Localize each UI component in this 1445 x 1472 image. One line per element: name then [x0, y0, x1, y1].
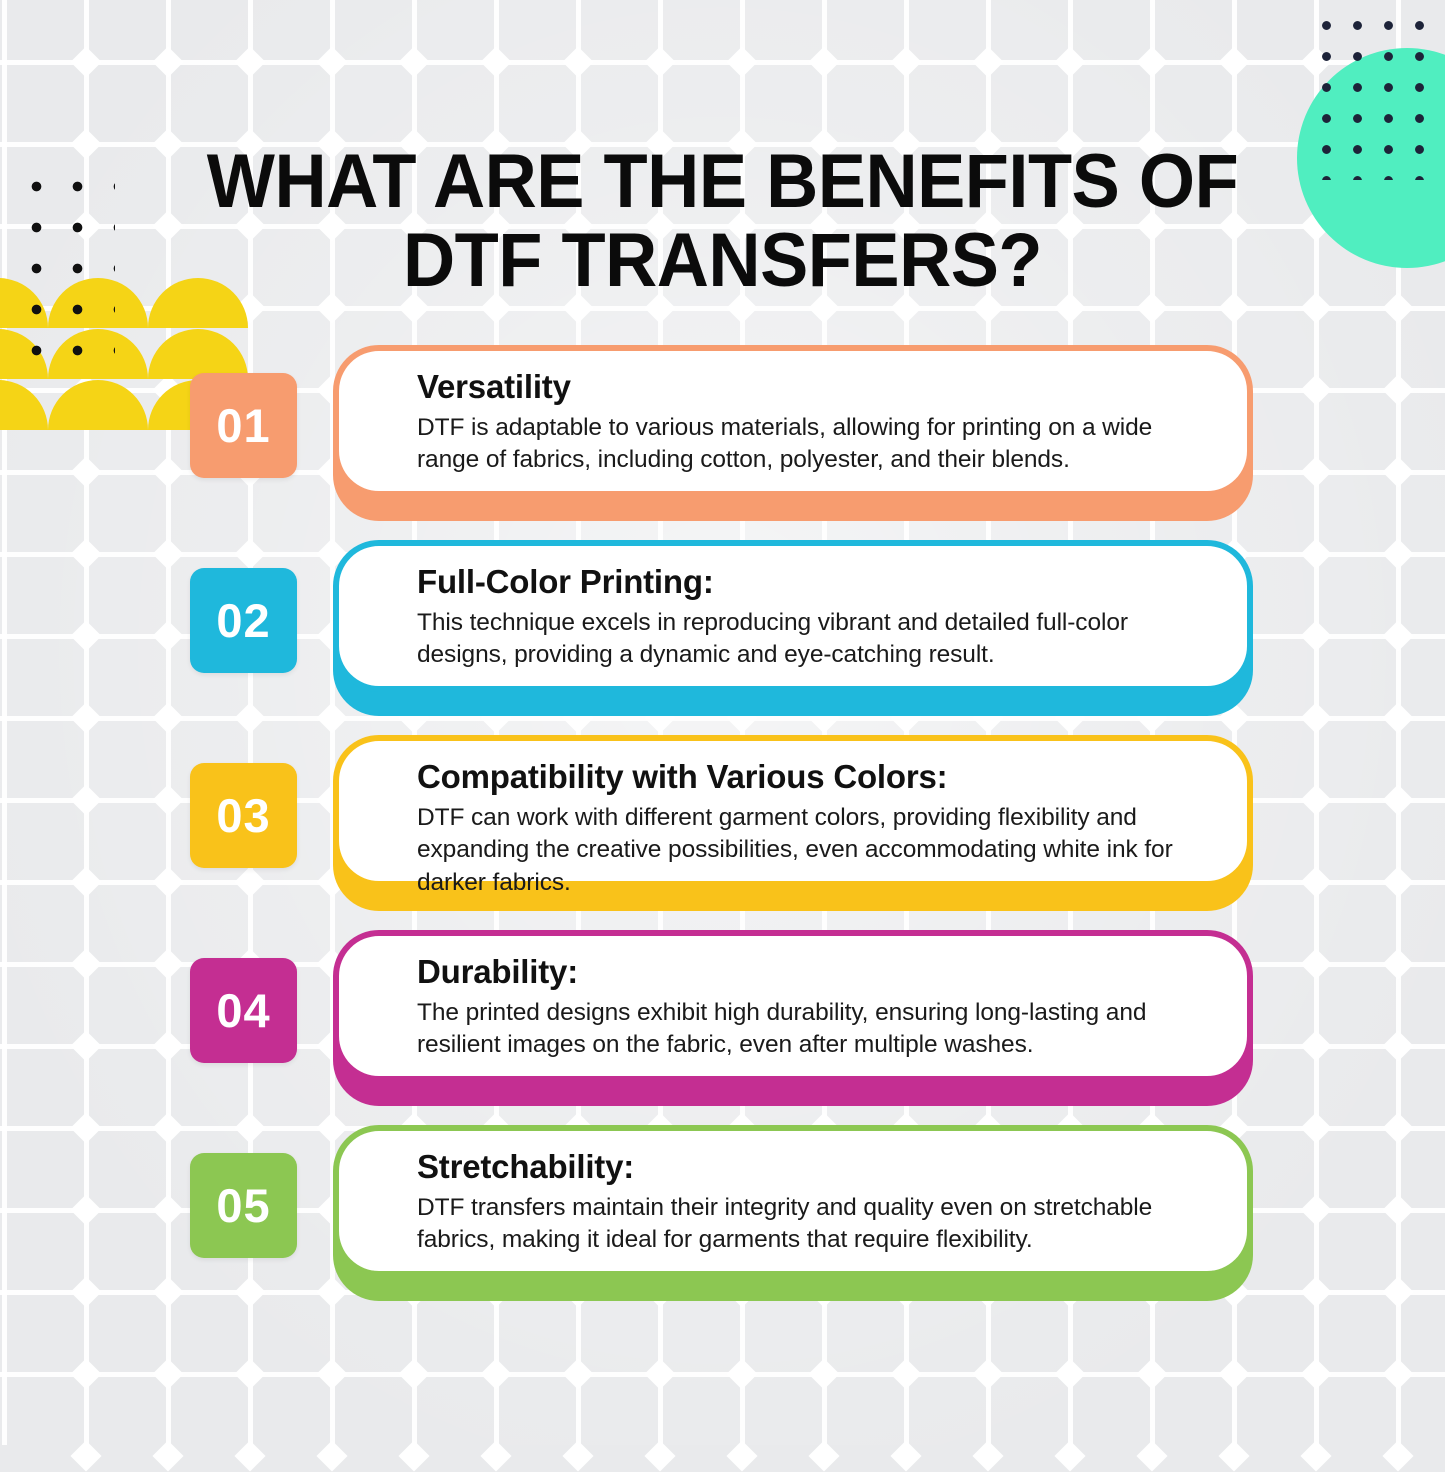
grid-diamond	[562, 1358, 593, 1389]
page-title: WHAT ARE THE BENEFITS OF DTF TRANSFERS?	[150, 142, 1295, 300]
benefit-row: 02Full-Color Printing:This technique exc…	[0, 540, 1445, 735]
grid-diamond	[808, 1440, 839, 1471]
grid-diamond	[1218, 46, 1249, 77]
grid-diamond	[972, 46, 1003, 77]
grid-diamond	[972, 1440, 1003, 1471]
benefit-row: 04Durability:The printed designs exhibit…	[0, 930, 1445, 1125]
grid-diamond	[808, 46, 839, 77]
grid-diamond	[890, 1358, 921, 1389]
benefit-title: Compatibility with Various Colors:	[417, 757, 1213, 797]
grid-diamond	[70, 1440, 101, 1471]
benefit-description: The printed designs exhibit high durabil…	[417, 997, 1213, 1062]
benefit-description: DTF transfers maintain their integrity a…	[417, 1192, 1213, 1257]
grid-diamond	[1054, 1358, 1085, 1389]
benefit-number-badge[interactable]: 01	[190, 373, 297, 478]
benefit-number-badge[interactable]: 03	[190, 763, 297, 868]
benefit-card[interactable]: Durability:The printed designs exhibit h…	[333, 930, 1253, 1100]
grid-diamond	[1136, 1358, 1167, 1389]
grid-diamond	[726, 1440, 757, 1471]
benefit-description: This technique excels in reproducing vib…	[417, 607, 1213, 672]
grid-diamond	[234, 1440, 265, 1471]
benefit-card[interactable]: Compatibility with Various Colors:DTF ca…	[333, 735, 1253, 905]
benefit-title: Full-Color Printing:	[417, 562, 1213, 602]
grid-diamond	[1136, 1440, 1167, 1471]
benefit-number-badge[interactable]: 04	[190, 958, 297, 1063]
grid-diamond	[398, 1440, 429, 1471]
grid-diamond	[562, 1440, 593, 1471]
grid-diamond	[398, 1358, 429, 1389]
benefit-card-surface: Durability:The printed designs exhibit h…	[333, 930, 1253, 1082]
benefit-description: DTF is adaptable to various materials, a…	[417, 412, 1213, 477]
grid-diamond	[726, 1358, 757, 1389]
benefit-description: DTF can work with different garment colo…	[417, 802, 1213, 900]
benefit-card-surface: Stretchability:DTF transfers maintain th…	[333, 1125, 1253, 1277]
grid-diamond	[480, 1440, 511, 1471]
grid-diamond	[562, 46, 593, 77]
benefit-card-surface: VersatilityDTF is adaptable to various m…	[333, 345, 1253, 497]
grid-diamond	[1300, 292, 1331, 323]
grid-diamond	[316, 46, 347, 77]
grid-diamond	[70, 1358, 101, 1389]
grid-diamond	[480, 46, 511, 77]
grid-diamond	[70, 46, 101, 77]
grid-diamond	[644, 1358, 675, 1389]
left-dot-grid-decoration	[10, 160, 115, 360]
grid-diamond	[1054, 46, 1085, 77]
benefit-row: 01VersatilityDTF is adaptable to various…	[0, 345, 1445, 540]
benefit-row: 03Compatibility with Various Colors:DTF …	[0, 735, 1445, 930]
top-right-dot-grid-decoration	[1307, 0, 1437, 180]
grid-diamond	[644, 1440, 675, 1471]
benefit-card[interactable]: Stretchability:DTF transfers maintain th…	[333, 1125, 1253, 1295]
grid-diamond	[1382, 292, 1413, 323]
grid-diamond	[1136, 46, 1167, 77]
grid-diamond	[152, 1358, 183, 1389]
benefit-row: 05Stretchability:DTF transfers maintain …	[0, 1125, 1445, 1320]
grid-diamond	[1300, 1358, 1331, 1389]
grid-diamond	[1382, 1440, 1413, 1471]
grid-diamond	[644, 46, 675, 77]
grid-diamond	[1218, 1440, 1249, 1471]
grid-diamond	[234, 46, 265, 77]
grid-diamond	[480, 1358, 511, 1389]
grid-diamond	[152, 1440, 183, 1471]
grid-diamond	[1054, 1440, 1085, 1471]
benefit-card-surface: Compatibility with Various Colors:DTF ca…	[333, 735, 1253, 887]
grid-diamond	[70, 128, 101, 159]
benefit-number-badge[interactable]: 05	[190, 1153, 297, 1258]
grid-diamond	[890, 46, 921, 77]
grid-diamond	[316, 1440, 347, 1471]
grid-diamond	[890, 1440, 921, 1471]
benefit-card[interactable]: Full-Color Printing:This technique excel…	[333, 540, 1253, 710]
benefit-title: Stretchability:	[417, 1147, 1213, 1187]
benefit-card-surface: Full-Color Printing:This technique excel…	[333, 540, 1253, 692]
benefit-number-badge[interactable]: 02	[190, 568, 297, 673]
grid-diamond	[808, 1358, 839, 1389]
grid-diamond	[398, 46, 429, 77]
grid-diamond	[1382, 1358, 1413, 1389]
benefit-title: Durability:	[417, 952, 1213, 992]
benefit-card[interactable]: VersatilityDTF is adaptable to various m…	[333, 345, 1253, 515]
grid-diamond	[234, 1358, 265, 1389]
grid-diamond	[152, 46, 183, 77]
grid-diamond	[972, 1358, 1003, 1389]
grid-diamond	[1218, 1358, 1249, 1389]
grid-diamond	[1300, 1440, 1331, 1471]
grid-diamond	[726, 46, 757, 77]
benefits-list: 01VersatilityDTF is adaptable to various…	[0, 345, 1445, 1320]
grid-diamond	[316, 1358, 347, 1389]
benefit-title: Versatility	[417, 367, 1213, 407]
